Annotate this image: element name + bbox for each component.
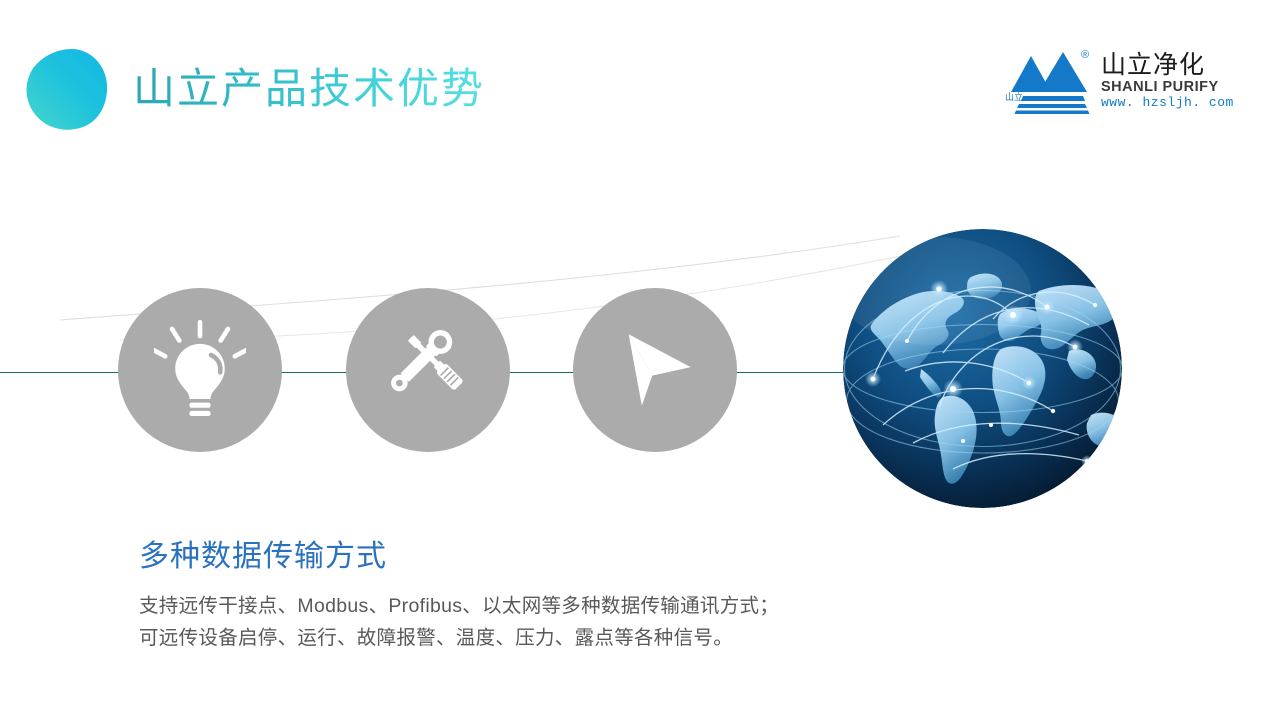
blob-shape-icon [22, 47, 110, 131]
mountain-logo-icon: ® 山立 [1005, 48, 1097, 116]
feature-icon-innovation[interactable] [118, 288, 282, 452]
paper-plane-cursor-icon [608, 323, 702, 417]
registered-trademark-icon: ® [1081, 49, 1089, 61]
wrench-screwdriver-icon [382, 324, 474, 416]
network-globe-image [843, 229, 1122, 508]
caption-block: 多种数据传输方式 支持远传干接点、Modbus、Profibus、以太网等多种数… [139, 536, 899, 654]
caption-body: 支持远传干接点、Modbus、Profibus、以太网等多种数据传输通讯方式； … [139, 590, 899, 654]
logo-company-name-cn: 山立净化 [1101, 52, 1234, 79]
slide-canvas: 山立产品技术优势 ® 山立 山立净化 SHANLI PURIFY www. hz… [0, 0, 1280, 720]
lightbulb-icon [154, 320, 246, 421]
logo-mark-sublabel: 山立 [1005, 92, 1023, 103]
feature-icon-maintenance[interactable] [346, 288, 510, 452]
feature-icon-transmission[interactable] [573, 288, 737, 452]
logo-text-block: 山立净化 SHANLI PURIFY www. hzsljh. com [1101, 48, 1234, 110]
caption-line: 可远传设备启停、运行、故障报警、温度、压力、露点等各种信号。 [139, 622, 899, 654]
brand-logo: ® 山立 山立净化 SHANLI PURIFY www. hzsljh. com [1005, 48, 1217, 120]
logo-website-url: www. hzsljh. com [1101, 95, 1234, 110]
page-title: 山立产品技术优势 [133, 58, 485, 120]
logo-company-name-en: SHANLI PURIFY [1101, 79, 1234, 95]
caption-heading: 多种数据传输方式 [139, 536, 899, 578]
caption-line: 支持远传干接点、Modbus、Profibus、以太网等多种数据传输通讯方式； [139, 590, 899, 622]
